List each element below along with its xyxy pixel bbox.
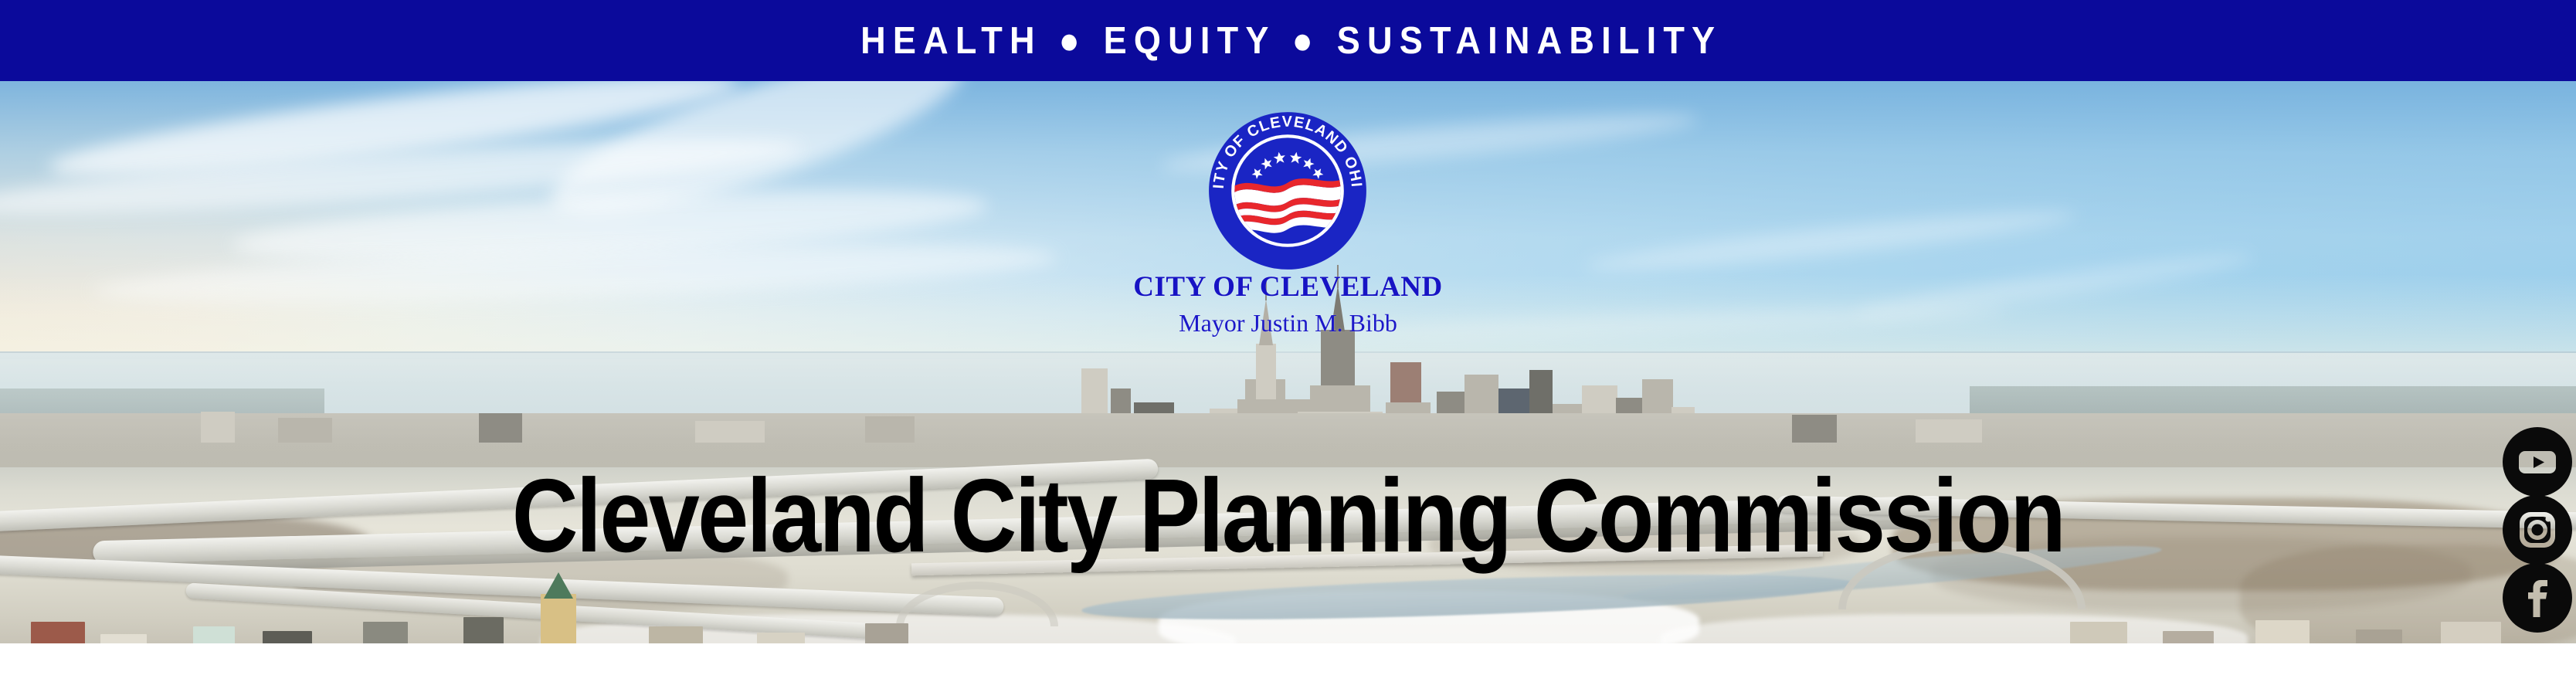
hero-photo: CITY OF CLEVELAND OHIO (0, 81, 2576, 643)
tagline-banner: HEALTH ● EQUITY ● SUSTAINABILITY (0, 0, 2576, 81)
youtube-button[interactable] (2503, 427, 2572, 497)
instagram-button[interactable] (2503, 495, 2572, 565)
mayor-name: Mayor Justin M. Bibb (0, 310, 2576, 335)
org-identity: CITY OF CLEVELAND Mayor Justin M. Bibb (0, 273, 2576, 335)
city-of-cleveland-seal-icon: CITY OF CLEVELAND OHIO (1207, 110, 1368, 271)
social-links (2500, 427, 2574, 631)
youtube-icon (2503, 427, 2572, 497)
footer-whitespace (0, 643, 2576, 682)
instagram-icon (2503, 495, 2572, 565)
facebook-icon (2503, 563, 2572, 633)
tagline-text: HEALTH ● EQUITY ● SUSTAINABILITY (854, 19, 1722, 63)
page-title: Cleveland City Planning Commission (154, 463, 2422, 568)
page-root: HEALTH ● EQUITY ● SUSTAINABILITY (0, 0, 2576, 682)
org-name: CITY OF CLEVELAND (0, 273, 2576, 301)
facebook-button[interactable] (2503, 563, 2572, 633)
